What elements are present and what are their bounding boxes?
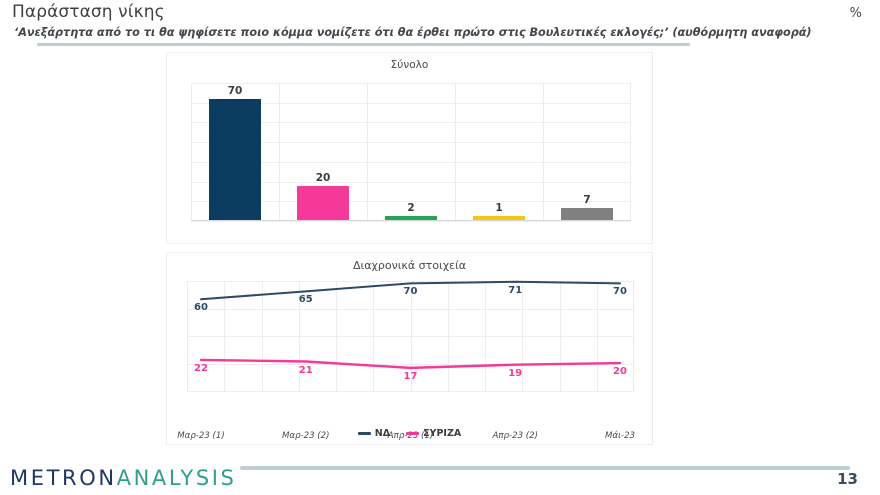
bar bbox=[473, 216, 525, 220]
page-subtitle: ‘Ανεξάρτητα από το τι θα ψηφίσετε ποιο κ… bbox=[14, 26, 812, 39]
bar-value-label: 20 bbox=[316, 172, 331, 184]
legend-swatch-icon bbox=[358, 432, 371, 435]
header-divider bbox=[37, 43, 690, 46]
line-point-label: 70 bbox=[613, 286, 627, 297]
line-chart-plot-area: 60657071702221171920 Μαρ-23 (1)Μαρ-23 (2… bbox=[187, 281, 634, 391]
bar bbox=[561, 208, 613, 220]
bar-value-label: 70 bbox=[228, 85, 243, 97]
line-series-2 bbox=[201, 360, 620, 368]
legend-item: ΝΔ bbox=[358, 428, 390, 439]
line-chart-panel: Διαχρονικά στοιχεία 60657071702221171920… bbox=[166, 252, 653, 445]
page-number: 13 bbox=[837, 470, 858, 488]
bar-group: 2Το ΚΙΝΑΛ bbox=[367, 83, 455, 220]
line-point-label: 19 bbox=[508, 368, 522, 379]
legend-item: ΣΥΡΙΖΑ bbox=[406, 428, 461, 439]
legend-swatch-icon bbox=[406, 432, 419, 435]
line-point-label: 20 bbox=[613, 366, 627, 377]
brand-logo: METRONANALYSIS bbox=[10, 466, 237, 490]
line-point-label: 65 bbox=[299, 294, 313, 305]
line-point-label: 17 bbox=[404, 371, 418, 382]
line-point-label: 21 bbox=[299, 365, 313, 376]
bar-value-label: 1 bbox=[495, 202, 502, 214]
bar-chart-title: Σύνολο bbox=[167, 59, 652, 71]
brand-logo-second: ANALYSIS bbox=[117, 466, 237, 490]
bar bbox=[209, 99, 261, 220]
percent-unit-label: % bbox=[850, 6, 862, 21]
line-chart-legend: ΝΔΣΥΡΙΖΑ bbox=[167, 428, 652, 439]
bar bbox=[297, 186, 349, 221]
legend-label: ΣΥΡΙΖΑ bbox=[423, 428, 461, 439]
line-point-label: 70 bbox=[404, 286, 418, 297]
brand-logo-first: METRON bbox=[10, 466, 117, 490]
page-title: Παράσταση νίκης bbox=[12, 2, 165, 22]
bar-chart-panel: Σύνολο 70Η ΝΔ20Ο ΣΥΡΙΖΑ2Το ΚΙΝΑΛ1Άλλο7ΔΓ… bbox=[166, 52, 653, 244]
bar bbox=[385, 216, 437, 220]
line-point-label: 60 bbox=[194, 302, 208, 313]
line-chart-title: Διαχρονικά στοιχεία bbox=[167, 259, 652, 272]
bar-group: 70Η ΝΔ bbox=[191, 83, 279, 220]
bar-chart-plot-area: 70Η ΝΔ20Ο ΣΥΡΙΖΑ2Το ΚΙΝΑΛ1Άλλο7ΔΓ/ΔΑ bbox=[191, 83, 631, 221]
bar-group: 1Άλλο bbox=[455, 83, 543, 220]
bar-value-label: 2 bbox=[407, 202, 414, 214]
bar-group: 7ΔΓ/ΔΑ bbox=[543, 83, 631, 220]
line-point-label: 71 bbox=[508, 285, 522, 296]
legend-label: ΝΔ bbox=[375, 428, 390, 439]
bar-value-label: 7 bbox=[583, 194, 590, 206]
footer-divider bbox=[240, 466, 850, 470]
line-point-label: 22 bbox=[194, 363, 208, 374]
bar-group: 20Ο ΣΥΡΙΖΑ bbox=[279, 83, 367, 220]
